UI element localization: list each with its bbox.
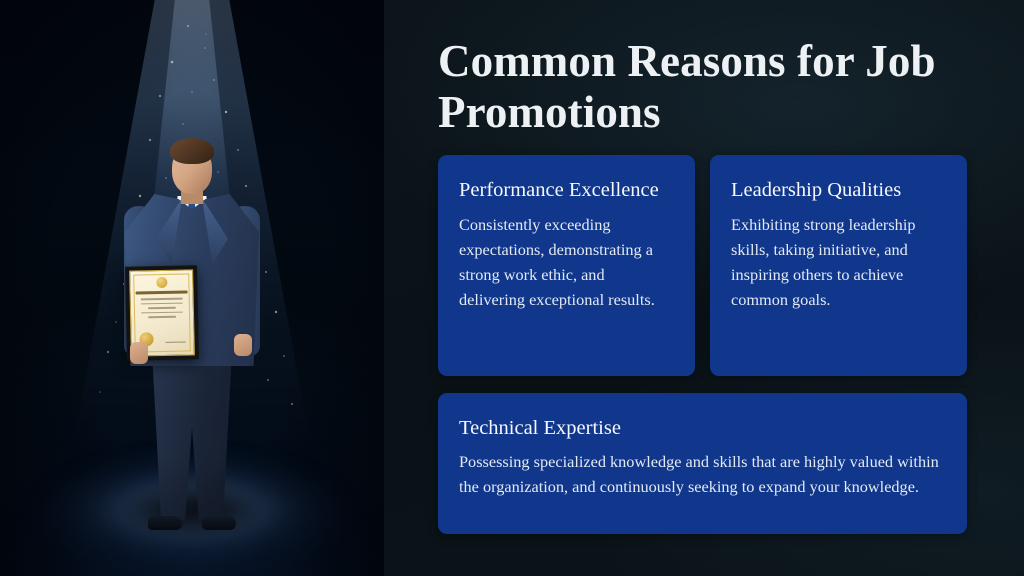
reason-cards: Performance Excellence Consistently exce… xyxy=(438,155,968,534)
figure-legs xyxy=(149,360,235,520)
page-title: Common Reasons for Job Promotions xyxy=(438,36,968,138)
figure-shoe-left xyxy=(148,516,182,530)
card-body: Exhibiting strong leadership skills, tak… xyxy=(731,212,946,312)
card-body: Consistently exceeding expectations, dem… xyxy=(459,212,674,312)
businessman-figure xyxy=(97,128,287,548)
card-body: Possessing specialized knowledge and ski… xyxy=(459,449,946,499)
figure-shoe-right xyxy=(202,516,236,530)
card-title: Technical Expertise xyxy=(459,414,946,443)
presentation-slide: Common Reasons for Job Promotions Perfor… xyxy=(0,0,1024,576)
figure-hand-left xyxy=(130,342,148,364)
hero-photo-panel xyxy=(0,0,384,576)
card-title: Performance Excellence xyxy=(459,176,674,205)
card-leadership-qualities[interactable]: Leadership Qualities Exhibiting strong l… xyxy=(710,155,967,376)
figure-hair xyxy=(170,138,214,164)
slide-content: Common Reasons for Job Promotions Perfor… xyxy=(384,0,1024,576)
card-technical-expertise[interactable]: Technical Expertise Possessing specializ… xyxy=(438,393,967,534)
cards-row-top: Performance Excellence Consistently exce… xyxy=(438,155,968,376)
card-performance-excellence[interactable]: Performance Excellence Consistently exce… xyxy=(438,155,695,376)
card-title: Leadership Qualities xyxy=(731,176,946,205)
figure-hand-right xyxy=(234,334,252,356)
